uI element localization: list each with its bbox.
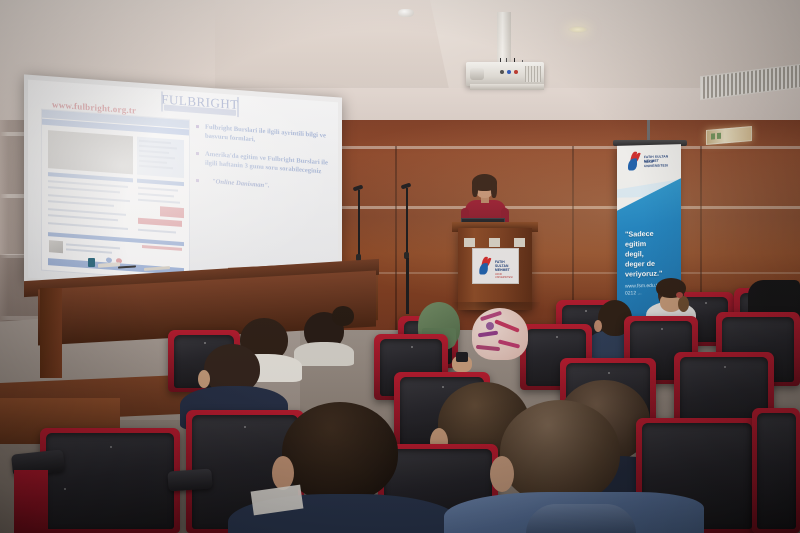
slide-bullet-3: "Online Danisman". [196, 176, 330, 195]
fsm-sub [644, 166, 645, 169]
fsm-name-line2: VAKIF UNIVERSITESI [644, 159, 672, 168]
podium-emblem-sub: VAKIF UNIVERSITESI [495, 273, 518, 279]
attendee-pink-headscarf [472, 308, 528, 364]
smoke-detector-icon [398, 9, 414, 17]
seat[interactable] [752, 408, 800, 533]
projector-power-led [514, 70, 518, 74]
banner-quote: "Sadece egitim degil, deger de veriyoruz… [625, 228, 677, 279]
table-leg [40, 288, 62, 378]
attendee-back-left-man-2 [604, 296, 624, 316]
attendee-row2-man-navy [196, 344, 268, 418]
table-items [88, 262, 208, 270]
attendee-front-center-man [272, 402, 412, 533]
water-cup [88, 258, 95, 267]
ponytail [678, 296, 689, 312]
projector-mount [497, 12, 511, 64]
projector-vent [525, 66, 541, 82]
slide-bullets: Fulbright Burslari ile ilgili ayrintili … [196, 122, 330, 204]
projector-button [500, 70, 504, 74]
slide-bullet-2: Amerika'da egitim ve Fulbright Burslari … [196, 149, 330, 177]
seat-armrest [167, 468, 212, 491]
seat-base [14, 470, 48, 533]
projector-lens [470, 68, 484, 80]
podium-emblem-line3: MEHMET [495, 268, 510, 272]
podium-emblem-plate: FATIH SULTAN MEHMET VAKIF UNIVERSITESI [472, 248, 519, 284]
ear [490, 456, 514, 492]
ceiling-projector [466, 62, 544, 86]
auditorium-photo: FULBRIGHT www.fulbright.org.tr [0, 0, 800, 533]
pen [118, 265, 136, 268]
site-group-photo [48, 130, 133, 174]
ear [198, 370, 210, 388]
jacket-hood [526, 504, 636, 533]
attendee-hand-with-phone [452, 352, 474, 372]
website-screenshot [41, 109, 190, 282]
seat[interactable] [40, 428, 180, 533]
projector-base-plate [470, 84, 544, 90]
attendee-mid-right-man [332, 306, 354, 326]
projector-indicator [507, 70, 511, 74]
downlight-icon [568, 26, 588, 33]
attendee-front-right-blue-jacket [480, 400, 680, 533]
slide-bullet-1: Fulbright Burslari ile ilgili ayrintili … [196, 122, 330, 150]
fsm-logo: FATIH SULTAN MEHMET VAKIF UNIVERSITESI [626, 150, 672, 173]
microphone-stand-right [400, 184, 414, 314]
hair-tie [676, 292, 683, 298]
fulbright-logo: FULBRIGHT [158, 91, 242, 119]
papers [98, 262, 120, 268]
